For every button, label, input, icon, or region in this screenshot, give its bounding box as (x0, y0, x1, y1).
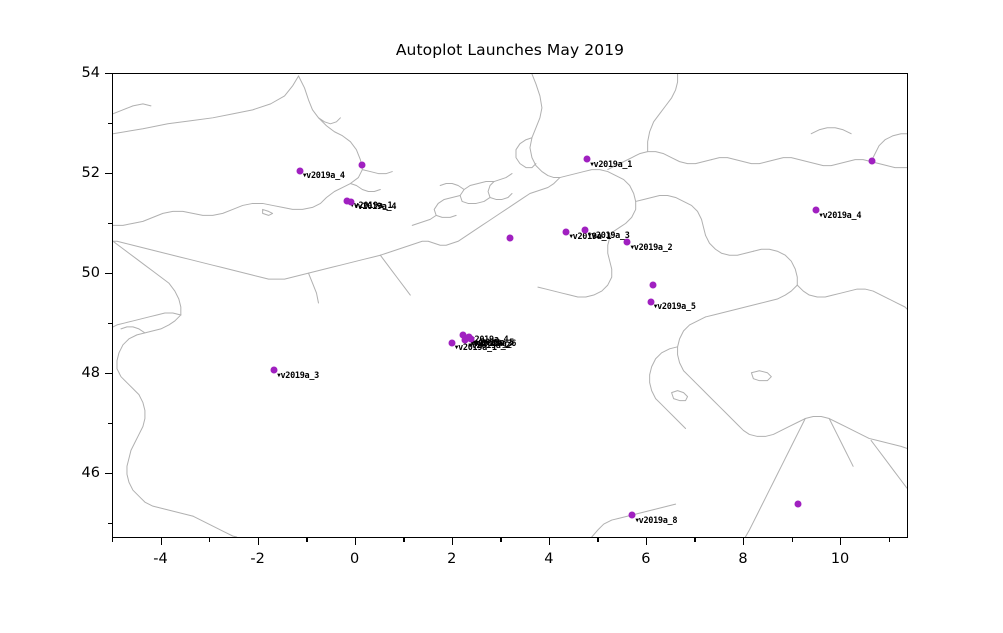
x-axis-minor-tick (403, 538, 404, 542)
x-axis-minor-tick (889, 538, 890, 542)
data-point-marker[interactable] (649, 282, 656, 289)
data-point-label: v2019a_3 (277, 371, 319, 381)
x-axis-tick-label: 6 (641, 551, 650, 567)
data-point-marker[interactable] (795, 501, 802, 508)
y-axis-minor-tick (108, 323, 112, 324)
data-point-marker[interactable] (358, 162, 365, 169)
x-axis-tick-label: 8 (738, 551, 747, 567)
y-axis-tick (105, 373, 112, 374)
data-point-marker[interactable] (868, 158, 875, 165)
y-axis-tick (105, 73, 112, 74)
x-axis-tick (646, 538, 647, 545)
x-axis-minor-tick (209, 538, 210, 542)
x-axis-tick-label: -4 (153, 551, 167, 567)
x-axis-minor-tick (112, 538, 113, 542)
y-axis-tick-label: 48 (54, 365, 100, 381)
x-axis-minor-tick (597, 538, 598, 542)
coastline-map (113, 74, 907, 537)
y-axis-minor-tick (108, 423, 112, 424)
data-point-label: v2019a_4 (354, 202, 396, 212)
y-axis-tick-label: 54 (54, 65, 100, 81)
data-point-label: v2019a_1 (590, 160, 632, 170)
y-axis-minor-tick (108, 223, 112, 224)
x-axis-tick-label: 4 (544, 551, 553, 567)
y-axis-tick (105, 273, 112, 274)
plot-area[interactable]: v2019a_4v2019a_1v2019a_4v2019a_1v2019a_4… (112, 73, 908, 538)
data-point-label: v2019a_4 (819, 211, 861, 221)
y-axis-tick-label: 52 (54, 165, 100, 181)
y-axis-tick (105, 173, 112, 174)
x-axis-tick (743, 538, 744, 545)
x-axis-tick-label: 0 (350, 551, 359, 567)
x-axis-minor-tick (306, 538, 307, 542)
y-axis-tick-label: 46 (54, 465, 100, 481)
x-axis-tick (452, 538, 453, 545)
x-axis-tick (840, 538, 841, 545)
page-title: Autoplot Launches May 2019 (112, 41, 908, 59)
x-axis-tick-label: 2 (447, 551, 456, 567)
x-axis-tick (549, 538, 550, 545)
data-point-label: v2019a_6 (474, 339, 516, 349)
data-point-label: v2019a_2 (630, 243, 672, 253)
x-axis-minor-tick (500, 538, 501, 542)
data-point-label: v2019a_5 (654, 302, 696, 312)
x-axis-minor-tick (792, 538, 793, 542)
figure-canvas: Autoplot Launches May 2019 (0, 0, 1003, 633)
data-point-label: v2019a_4 (303, 171, 345, 181)
data-point-label: v2019a_8 (635, 516, 677, 526)
x-axis-tick-label: 10 (831, 551, 849, 567)
x-axis-tick (258, 538, 259, 545)
x-axis-minor-tick (694, 538, 695, 542)
data-point-label: v2019a_3 (588, 231, 630, 241)
x-axis-tick (161, 538, 162, 545)
y-axis-minor-tick (108, 523, 112, 524)
y-axis-tick-label: 50 (54, 265, 100, 281)
data-point-marker[interactable] (507, 235, 514, 242)
x-axis-tick-label: -2 (250, 551, 264, 567)
x-axis-tick (355, 538, 356, 545)
y-axis-minor-tick (108, 123, 112, 124)
y-axis-tick (105, 473, 112, 474)
